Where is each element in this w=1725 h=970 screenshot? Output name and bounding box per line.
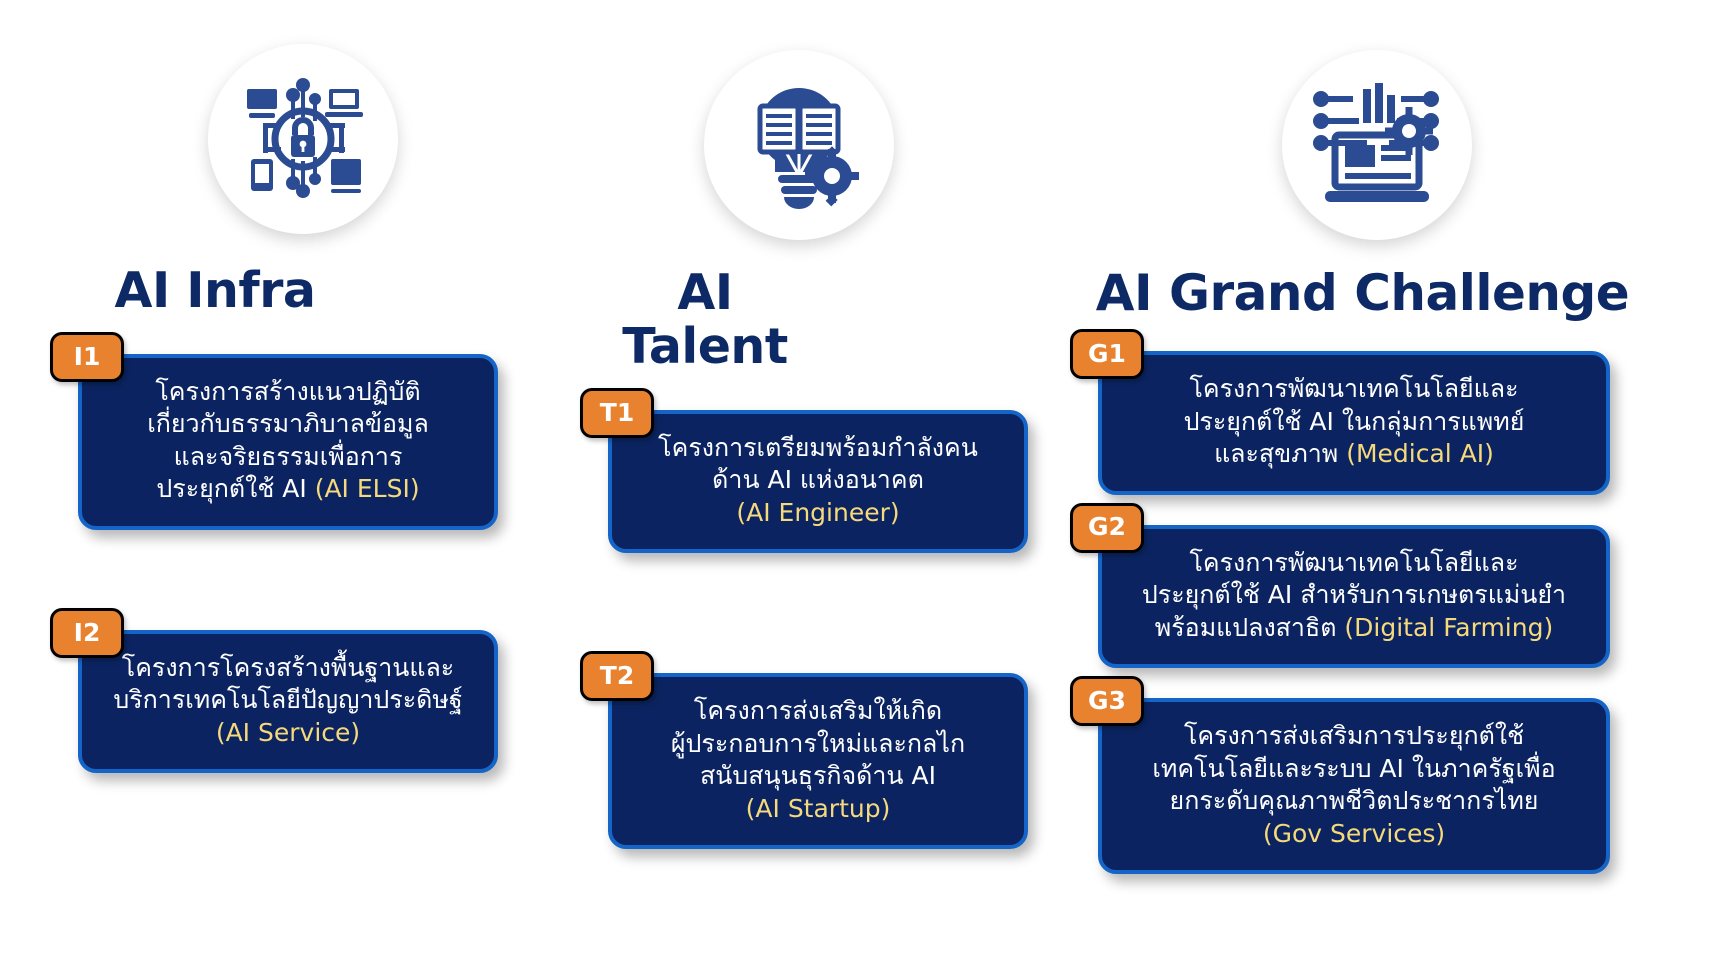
status-badge-t1: T1 (580, 388, 654, 438)
status-badge-g2: G2 (1070, 503, 1144, 553)
card-accent-text: (AI Startup) (634, 793, 1002, 826)
column-ai-infra: AI Infra I1 โครงการสร้างแนวปฏิบัติ เกี่ย… (60, 0, 560, 773)
card-accent-text: (AI Engineer) (634, 497, 1002, 530)
card-wrap-g3: G3 โครงการส่งเสริมการประยุกต์ใช้ เทคโนโล… (1060, 698, 1680, 874)
card-wrap-g1: G1 โครงการพัฒนาเทคโนโลยีและ ประยุกต์ใช้ … (1060, 351, 1680, 495)
page-title-ai-grand-challenge: AI Grand Challenge (1060, 266, 1680, 321)
card-last-line: พร้อมแปลงสาธิต (Digital Farming) (1124, 612, 1584, 645)
card-accent-text: (AI ELSI) (315, 474, 420, 503)
project-card-g2[interactable]: G2 โครงการพัฒนาเทคโนโลยีและ ประยุกต์ใช้ … (1098, 525, 1610, 669)
card-line: โครงการส่งเสริมให้เกิด (634, 695, 1002, 728)
status-badge-g3: G3 (1070, 676, 1144, 726)
card-last-line: และสุขภาพ (Medical AI) (1124, 438, 1584, 471)
card-thai-text: ประยุกต์ใช้ AI (156, 474, 314, 503)
card-thai-text: พร้อมแปลงสาธิต (1155, 613, 1345, 642)
card-thai-text: และสุขภาพ (1214, 439, 1346, 468)
card-accent-text: (Gov Services) (1124, 818, 1584, 851)
card-line: และจริยธรรมเพื่อการ (104, 441, 472, 474)
status-badge-i2: I2 (50, 608, 124, 658)
status-badge-g1: G1 (1070, 329, 1144, 379)
card-line: บริการเทคโนโลยีปัญญาประดิษฐ์ (104, 684, 472, 717)
column-ai-talent: AI Talent T1 โครงการเตรียมพร้อมกำลังคน ด… (590, 0, 1050, 849)
card-line: โครงการเตรียมพร้อมกำลังคน (634, 432, 1002, 465)
project-card-i1[interactable]: I1 โครงการสร้างแนวปฏิบัติ เกี่ยวกับธรรมา… (78, 354, 498, 530)
infographic-board: AI Infra I1 โครงการสร้างแนวปฏิบัติ เกี่ย… (0, 0, 1725, 970)
card-line: ด้าน AI แห่งอนาคต (634, 464, 1002, 497)
card-line: ประยุกต์ใช้ AI ในกลุ่มการแพทย์ (1124, 406, 1584, 439)
card-line: โครงการพัฒนาเทคโนโลยีและ (1124, 373, 1584, 406)
status-badge-i1: I1 (50, 332, 124, 382)
card-line: โครงการสร้างแนวปฏิบัติ (104, 376, 472, 409)
card-line: โครงการส่งเสริมการประยุกต์ใช้ (1124, 720, 1584, 753)
card-line: สนับสนุนธุรกิจด้าน AI (634, 760, 1002, 793)
card-accent-text: (AI Service) (104, 717, 472, 750)
column-ai-grand-challenge: AI Grand Challenge G1 โครงการพัฒนาเทคโนโ… (1060, 0, 1680, 874)
card-line: ประยุกต์ใช้ AI สำหรับการเกษตรแม่นยำ (1124, 579, 1584, 612)
page-title-ai-talent: AI Talent (590, 266, 1050, 374)
card-accent-text: (Digital Farming) (1344, 613, 1553, 642)
project-card-t2[interactable]: T2 โครงการส่งเสริมให้เกิด ผู้ประกอบการให… (608, 673, 1028, 849)
card-line: เทคโนโลยีและระบบ AI ในภาครัฐเพื่อ (1124, 753, 1584, 786)
project-card-g1[interactable]: G1 โครงการพัฒนาเทคโนโลยีและ ประยุกต์ใช้ … (1098, 351, 1610, 495)
project-card-i2[interactable]: I2 โครงการโครงสร้างพื้นฐานและ บริการเทคโ… (78, 630, 498, 774)
card-line: ยกระดับคุณภาพชีวิตประชากรไทย (1124, 785, 1584, 818)
card-line: โครงการโครงสร้างพื้นฐานและ (104, 652, 472, 685)
card-wrap-t2: T2 โครงการส่งเสริมให้เกิด ผู้ประกอบการให… (590, 673, 1050, 849)
card-wrap-i1: I1 โครงการสร้างแนวปฏิบัติ เกี่ยวกับธรรมา… (60, 354, 560, 530)
status-badge-t2: T2 (580, 651, 654, 701)
card-line: โครงการพัฒนาเทคโนโลยีและ (1124, 547, 1584, 580)
card-wrap-t1: T1 โครงการเตรียมพร้อมกำลังคน ด้าน AI แห่… (590, 410, 1050, 554)
project-card-t1[interactable]: T1 โครงการเตรียมพร้อมกำลังคน ด้าน AI แห่… (608, 410, 1028, 554)
card-wrap-i2: I2 โครงการโครงสร้างพื้นฐานและ บริการเทคโ… (60, 630, 560, 774)
card-accent-text: (Medical AI) (1346, 439, 1494, 468)
card-wrap-g2: G2 โครงการพัฒนาเทคโนโลยีและ ประยุกต์ใช้ … (1060, 525, 1680, 669)
page-title-ai-infra: AI Infra (60, 264, 560, 318)
card-last-line: ประยุกต์ใช้ AI (AI ELSI) (104, 473, 472, 506)
card-line: เกี่ยวกับธรรมาภิบาลข้อมูล (104, 408, 472, 441)
lightbulb-book-gear-icon (704, 50, 894, 240)
laptop-circuit-gear-icon (1282, 50, 1472, 240)
project-card-g3[interactable]: G3 โครงการส่งเสริมการประยุกต์ใช้ เทคโนโล… (1098, 698, 1610, 874)
card-line: ผู้ประกอบการใหม่และกลไก (634, 728, 1002, 761)
network-security-lock-icon (208, 44, 398, 234)
